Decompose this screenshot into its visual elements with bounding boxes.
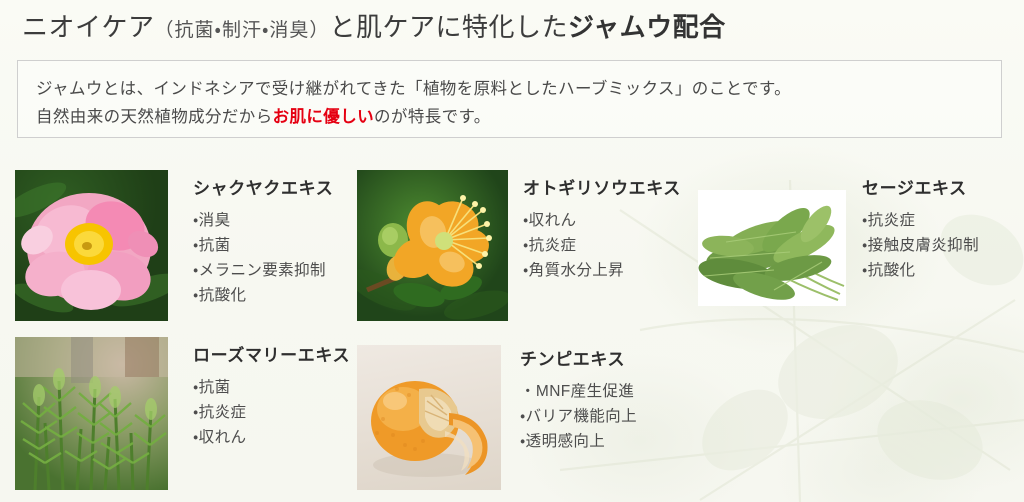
rosemary-plant-photo bbox=[15, 337, 168, 490]
title-emphasis-text: ジャムウ配合 bbox=[568, 12, 726, 42]
description-box: ジャムウとは、インドネシアで受け継がれてきた「植物を原料としたハーブミックス」の… bbox=[17, 60, 1002, 138]
orange-peel-photo bbox=[357, 345, 501, 490]
benefit-item: 抗炎症 bbox=[862, 208, 979, 233]
title-parenthetical-text: （抗菌・制汗・消臭） bbox=[155, 20, 330, 41]
ingredient-card-rosemary: ローズマリーエキス 抗菌 抗炎症 収れん bbox=[15, 337, 355, 490]
benefit-item: 抗酸化 bbox=[862, 258, 979, 283]
ingredient-name: シャクヤクエキス bbox=[193, 174, 333, 199]
benefit-item: 抗菌 bbox=[193, 375, 350, 400]
st-johns-wort-flower-photo bbox=[357, 170, 508, 321]
benefit-item: 抗炎症 bbox=[523, 233, 681, 258]
description-line-2: 自然由来の天然植物成分だからお肌に優しいのが特長です。 bbox=[36, 103, 1001, 131]
description-line-1: ジャムウとは、インドネシアで受け継がれてきた「植物を原料としたハーブミックス」の… bbox=[36, 75, 1001, 103]
infographic-canvas: ニオイケア（抗菌・制汗・消臭）と肌ケアに特化したジャムウ配合 ジャムウとは、イン… bbox=[0, 0, 1024, 502]
benefit-item: 抗酸化 bbox=[193, 283, 333, 308]
benefit-item: MNF産生促進 bbox=[520, 379, 637, 404]
benefit-item: 接触皮膚炎抑制 bbox=[862, 233, 979, 258]
description-line-2-suffix: のが特長です。 bbox=[374, 108, 491, 126]
sage-text-block: セージエキス 抗炎症 接触皮膚炎抑制 抗酸化 bbox=[862, 174, 979, 283]
benefit-list: MNF産生促進 バリア機能向上 透明感向上 bbox=[520, 379, 637, 454]
title-middle-text: と肌ケアに特化した bbox=[329, 12, 568, 42]
otogirisou-text-block: オトギリソウエキス 収れん 抗炎症 角質水分上昇 bbox=[523, 174, 681, 283]
benefit-item: 消臭 bbox=[193, 208, 333, 233]
peony-flower-photo bbox=[15, 170, 168, 321]
description-line-2-prefix: 自然由来の天然植物成分だから bbox=[36, 108, 273, 126]
shakuyaku-text-block: シャクヤクエキス 消臭 抗菌 メラニン要素抑制 抗酸化 bbox=[193, 174, 333, 308]
rosemary-text-block: ローズマリーエキス 抗菌 抗炎症 収れん bbox=[193, 341, 350, 450]
benefit-item: バリア機能向上 bbox=[520, 404, 637, 429]
title-main-text: ニオイケア bbox=[22, 12, 155, 42]
ingredient-name: セージエキス bbox=[862, 174, 979, 199]
benefit-item: 角質水分上昇 bbox=[523, 258, 681, 283]
benefit-list: 抗菌 抗炎症 収れん bbox=[193, 375, 350, 450]
benefit-list: 消臭 抗菌 メラニン要素抑制 抗酸化 bbox=[193, 208, 333, 308]
ingredient-card-sage: セージエキス 抗炎症 接触皮膚炎抑制 抗酸化 bbox=[698, 170, 1018, 322]
benefit-item: 透明感向上 bbox=[520, 429, 637, 454]
benefit-item: 収れん bbox=[193, 425, 350, 450]
benefit-list: 抗炎症 接触皮膚炎抑制 抗酸化 bbox=[862, 208, 979, 283]
description-line-1-text: ジャムウとは、インドネシアで受け継がれてきた「植物を原料としたハーブミックス」の… bbox=[36, 80, 791, 98]
ingredient-card-otogirisou: オトギリソウエキス 収れん 抗炎症 角質水分上昇 bbox=[357, 170, 687, 322]
ingredient-name: オトギリソウエキス bbox=[523, 174, 681, 199]
benefit-item: 抗菌 bbox=[193, 233, 333, 258]
benefit-item: メラニン要素抑制 bbox=[193, 258, 333, 283]
ingredient-name: チンピエキス bbox=[520, 345, 637, 370]
page-title: ニオイケア（抗菌・制汗・消臭）と肌ケアに特化したジャムウ配合 bbox=[22, 10, 726, 48]
chinpi-text-block: チンピエキス MNF産生促進 バリア機能向上 透明感向上 bbox=[520, 345, 637, 454]
benefit-list: 収れん 抗炎症 角質水分上昇 bbox=[523, 208, 681, 283]
ingredient-card-shakuyaku: シャクヤクエキス 消臭 抗菌 メラニン要素抑制 抗酸化 bbox=[15, 170, 355, 322]
ingredient-card-chinpi: チンピエキス MNF産生促進 バリア機能向上 透明感向上 bbox=[357, 345, 687, 490]
sage-leaves-photo bbox=[698, 190, 846, 306]
benefit-item: 抗炎症 bbox=[193, 400, 350, 425]
ingredient-name: ローズマリーエキス bbox=[193, 341, 350, 366]
description-highlight-text: お肌に優しい bbox=[273, 108, 374, 126]
benefit-item: 収れん bbox=[523, 208, 681, 233]
